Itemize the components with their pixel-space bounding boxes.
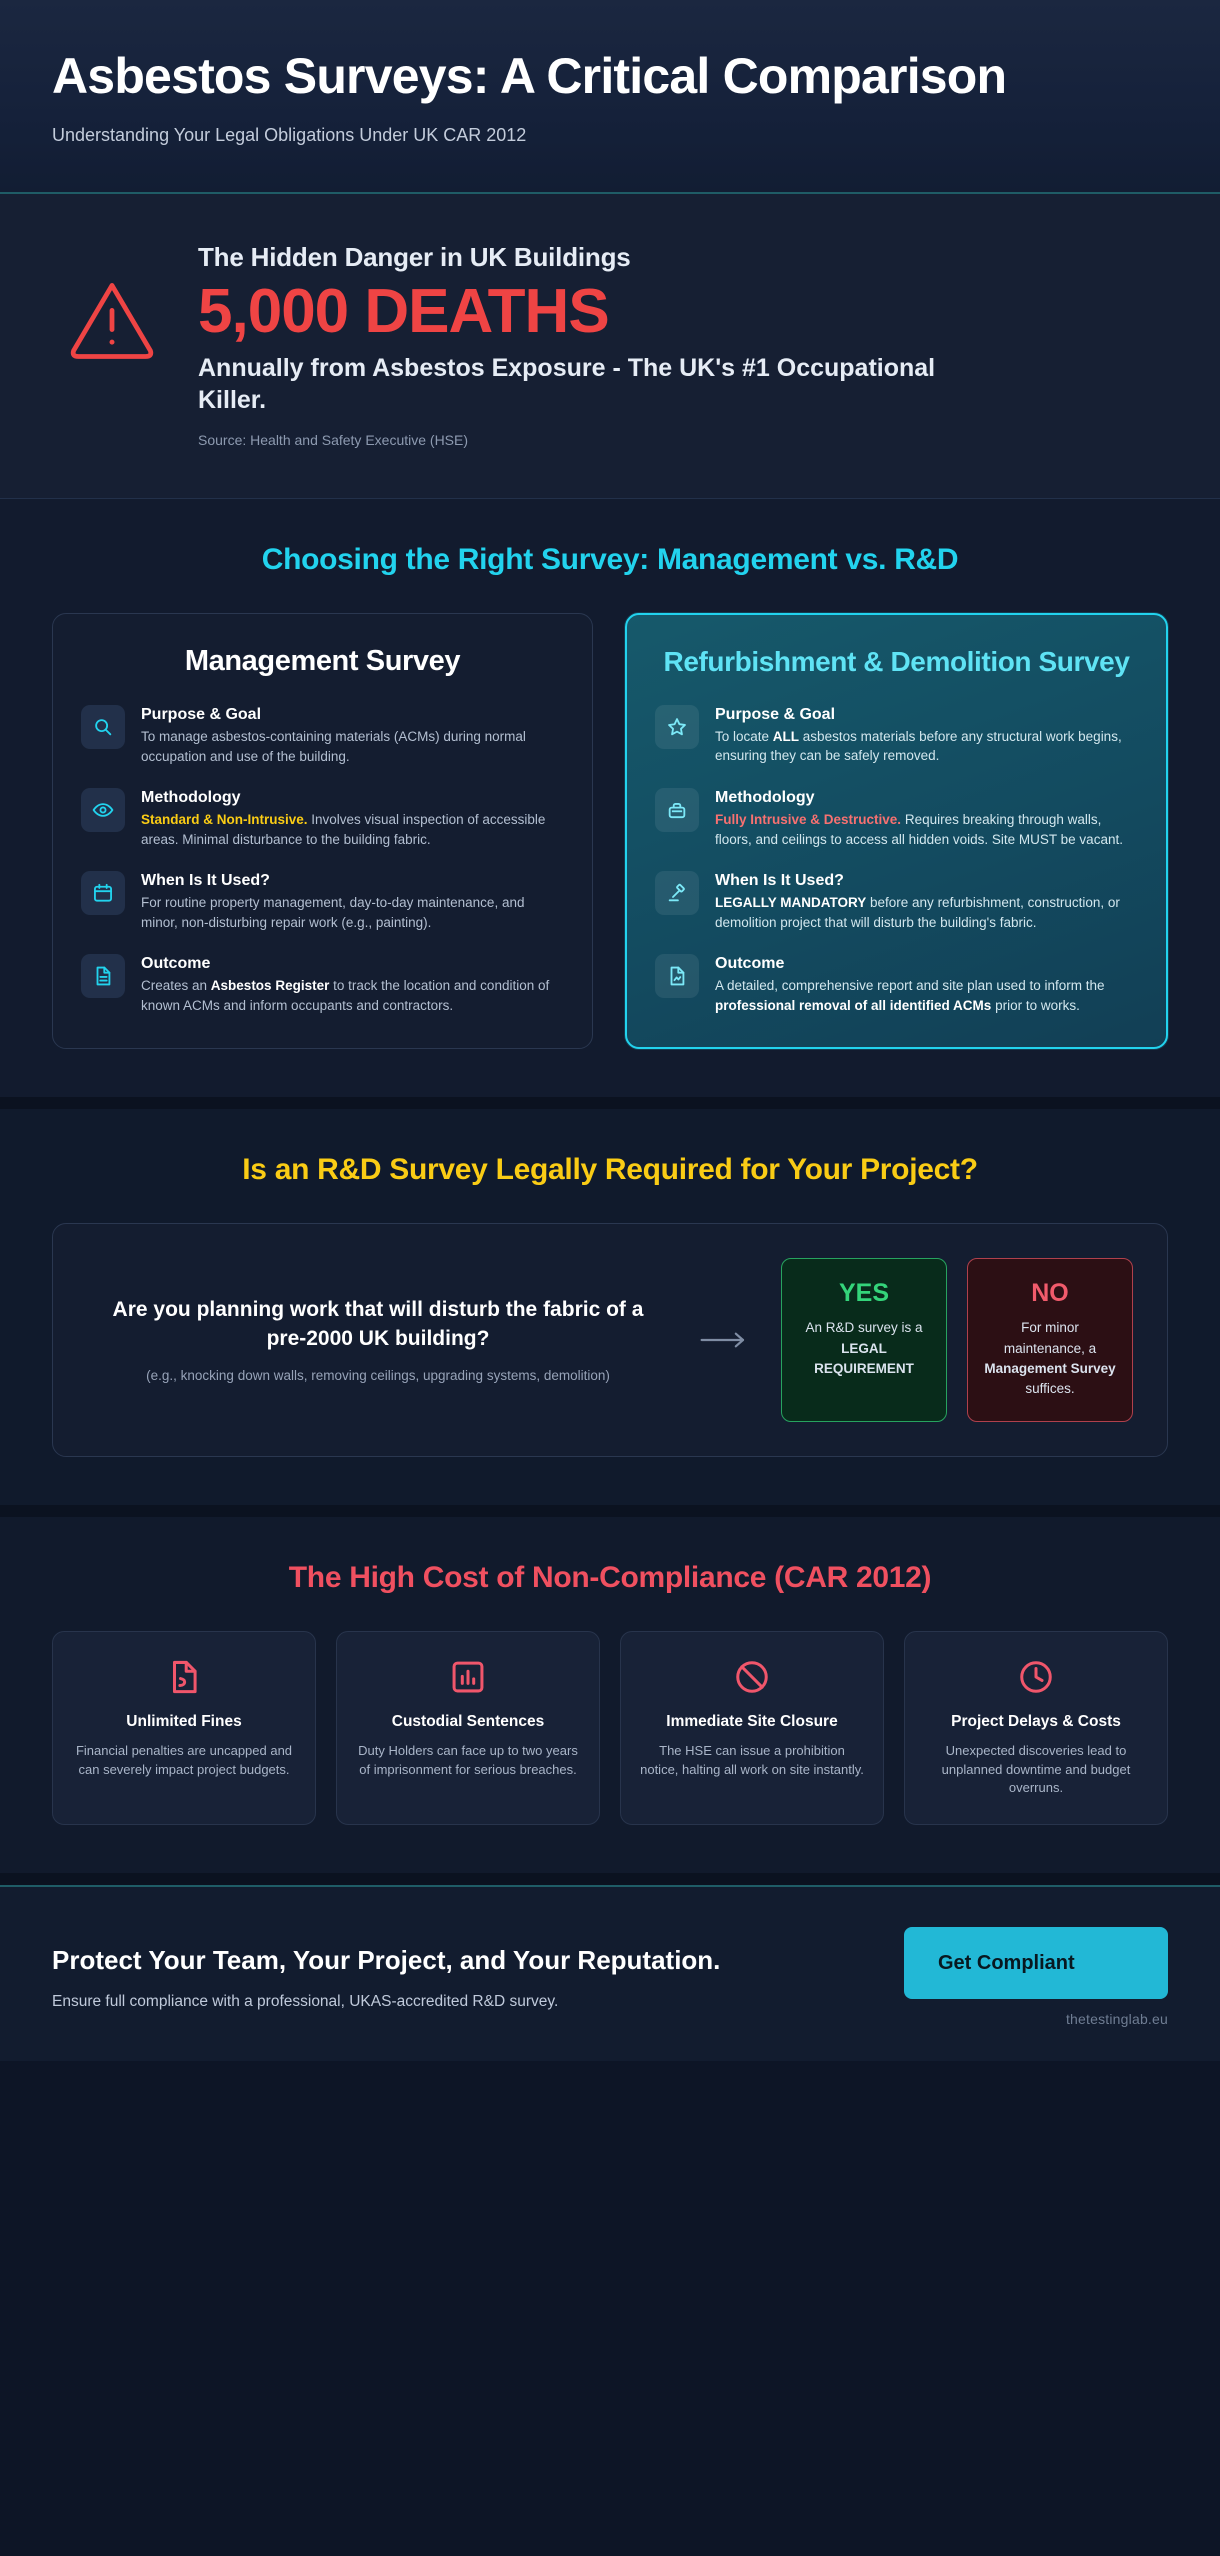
penalty-title: Project Delays & Costs bbox=[923, 1712, 1149, 1731]
report-icon bbox=[655, 954, 699, 998]
feature-item: Outcome A detailed, comprehensive report… bbox=[655, 954, 1138, 1015]
decision-outcomes: YES An R&D survey is a LEGAL REQUIREMENT… bbox=[781, 1258, 1133, 1422]
decision-section: Is an R&D Survey Legally Required for Yo… bbox=[0, 1109, 1220, 1517]
feature-item: Outcome Creates an Asbestos Register to … bbox=[81, 954, 564, 1015]
hero-source-citation: Source: Health and Safety Executive (HSE… bbox=[198, 432, 1168, 448]
feature-description: Standard & Non-Intrusive. Involves visua… bbox=[141, 810, 564, 849]
page-subtitle: Understanding Your Legal Obligations Und… bbox=[52, 125, 1168, 146]
feature-description: To manage asbestos-containing materials … bbox=[141, 727, 564, 766]
page-header: Asbestos Surveys: A Critical Comparison … bbox=[0, 0, 1220, 194]
feature-title: Outcome bbox=[715, 955, 1138, 973]
penalty-title: Custodial Sentences bbox=[355, 1712, 581, 1731]
hero-statistic-band: The Hidden Danger in UK Buildings 5,000 … bbox=[0, 194, 1220, 500]
document-icon bbox=[81, 954, 125, 998]
footer-cta-band: Protect Your Team, Your Project, and You… bbox=[0, 1885, 1220, 2061]
feature-title: When Is It Used? bbox=[141, 872, 564, 890]
feature-item: Purpose & Goal To manage asbestos-contai… bbox=[81, 705, 564, 766]
penalty-title: Unlimited Fines bbox=[71, 1712, 297, 1731]
prohibition-icon bbox=[733, 1658, 771, 1696]
outcome-yes-text: An R&D survey is a LEGAL REQUIREMENT bbox=[796, 1318, 932, 1379]
clock-icon bbox=[1017, 1658, 1055, 1696]
outcome-no: NO For minor maintenance, a Management S… bbox=[967, 1258, 1133, 1422]
penalty-card: Project Delays & Costs Unexpected discov… bbox=[904, 1631, 1168, 1825]
magnifier-icon bbox=[81, 705, 125, 749]
decision-question: Are you planning work that will disturb … bbox=[97, 1296, 659, 1354]
hero-kicker: The Hidden Danger in UK Buildings bbox=[198, 242, 1168, 273]
decision-question-block: Are you planning work that will disturb … bbox=[87, 1296, 669, 1386]
feature-title: When Is It Used? bbox=[715, 872, 1138, 890]
feature-item: Methodology Fully Intrusive & Destructiv… bbox=[655, 788, 1138, 849]
footer-title: Protect Your Team, Your Project, and You… bbox=[52, 1944, 772, 1977]
infographic-page: Asbestos Surveys: A Critical Comparison … bbox=[0, 0, 1220, 2556]
bars-icon bbox=[449, 1658, 487, 1696]
feature-description: To locate ALL asbestos materials before … bbox=[715, 727, 1138, 766]
penalties-heading: The High Cost of Non-Compliance (CAR 201… bbox=[52, 1561, 1168, 1595]
penalty-description: Financial penalties are uncapped and can… bbox=[71, 1742, 297, 1780]
feature-title: Methodology bbox=[715, 789, 1138, 807]
penalty-card: Custodial Sentences Duty Holders can fac… bbox=[336, 1631, 600, 1825]
warning-triangle-icon bbox=[64, 272, 160, 368]
feature-item: When Is It Used? For routine property ma… bbox=[81, 871, 564, 932]
decision-question-note: (e.g., knocking down walls, removing cei… bbox=[97, 1366, 659, 1386]
outcome-yes: YES An R&D survey is a LEGAL REQUIREMENT bbox=[781, 1258, 947, 1422]
penalties-section: The High Cost of Non-Compliance (CAR 201… bbox=[0, 1517, 1220, 1885]
management-card-title: Management Survey bbox=[81, 644, 564, 679]
decision-flow-box: Are you planning work that will disturb … bbox=[52, 1223, 1168, 1457]
feature-description: A detailed, comprehensive report and sit… bbox=[715, 976, 1138, 1015]
comparison-cards-row: Management Survey Purpose & Goal To mana… bbox=[52, 613, 1168, 1049]
feature-item: Purpose & Goal To locate ALL asbestos ma… bbox=[655, 705, 1138, 766]
penalty-description: The HSE can issue a prohibition notice, … bbox=[639, 1742, 865, 1780]
feature-description: LEGALLY MANDATORY before any refurbishme… bbox=[715, 893, 1138, 932]
fine-document-icon bbox=[165, 1658, 203, 1696]
star-icon bbox=[655, 705, 699, 749]
arrow-right-icon bbox=[695, 1328, 755, 1352]
feature-title: Purpose & Goal bbox=[141, 706, 564, 724]
penalty-description: Duty Holders can face up to two years of… bbox=[355, 1742, 581, 1780]
gavel-icon bbox=[655, 871, 699, 915]
page-title: Asbestos Surveys: A Critical Comparison bbox=[52, 48, 1012, 105]
hero-death-count: 5,000 DEATHS bbox=[198, 279, 1168, 345]
briefcase-icon bbox=[655, 788, 699, 832]
hero-description: Annually from Asbestos Exposure - The UK… bbox=[198, 352, 998, 416]
penalty-card: Immediate Site Closure The HSE can issue… bbox=[620, 1631, 884, 1825]
feature-title: Outcome bbox=[141, 955, 564, 973]
feature-title: Purpose & Goal bbox=[715, 706, 1138, 724]
brand-name: thetestinglab.eu bbox=[904, 2011, 1168, 2027]
comparison-heading: Choosing the Right Survey: Management vs… bbox=[52, 543, 1168, 577]
decision-heading: Is an R&D Survey Legally Required for Yo… bbox=[52, 1153, 1168, 1187]
penalty-title: Immediate Site Closure bbox=[639, 1712, 865, 1731]
refurbishment-card-title: Refurbishment & Demolition Survey bbox=[655, 645, 1138, 679]
calendar-icon bbox=[81, 871, 125, 915]
management-survey-card: Management Survey Purpose & Goal To mana… bbox=[52, 613, 593, 1049]
penalty-card: Unlimited Fines Financial penalties are … bbox=[52, 1631, 316, 1825]
outcome-yes-label: YES bbox=[796, 1279, 932, 1308]
outcome-no-text: For minor maintenance, a Management Surv… bbox=[982, 1318, 1118, 1399]
eye-icon bbox=[81, 788, 125, 832]
penalties-cards-row: Unlimited Fines Financial penalties are … bbox=[52, 1631, 1168, 1825]
feature-description: Creates an Asbestos Register to track th… bbox=[141, 976, 564, 1015]
feature-description: Fully Intrusive & Destructive. Requires … bbox=[715, 810, 1138, 849]
outcome-no-label: NO bbox=[982, 1279, 1118, 1308]
refurbishment-demolition-survey-card: Refurbishment & Demolition Survey Purpos… bbox=[625, 613, 1168, 1049]
feature-item: Methodology Standard & Non-Intrusive. In… bbox=[81, 788, 564, 849]
get-compliant-button[interactable]: Get Compliant bbox=[904, 1927, 1168, 1999]
penalty-description: Unexpected discoveries lead to unplanned… bbox=[923, 1742, 1149, 1799]
comparison-section: Choosing the Right Survey: Management vs… bbox=[0, 499, 1220, 1109]
footer-subtitle: Ensure full compliance with a profession… bbox=[52, 1993, 870, 2011]
feature-title: Methodology bbox=[141, 789, 564, 807]
feature-item: When Is It Used? LEGALLY MANDATORY befor… bbox=[655, 871, 1138, 932]
feature-description: For routine property management, day-to-… bbox=[141, 893, 564, 932]
